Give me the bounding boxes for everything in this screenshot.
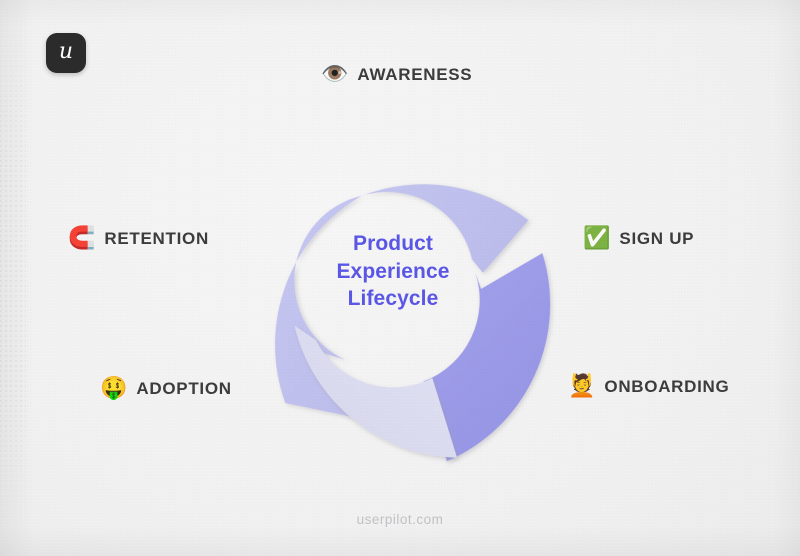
stage-label-adoption-text: ADOPTION (136, 379, 231, 399)
check-mark-button-icon: ✅ (583, 228, 610, 250)
userpilot-logo[interactable]: u (46, 33, 86, 73)
logo-glyph: u (59, 41, 73, 63)
stage-label-adoption[interactable]: 🤑 ADOPTION (100, 378, 232, 400)
money-mouth-face-icon: 🤑 (100, 378, 127, 400)
stage-label-awareness[interactable]: 👁️ AWARENESS (321, 64, 472, 86)
stage-label-signup-text: SIGN UP (619, 229, 694, 249)
person-getting-massage-icon: 💆 (568, 376, 595, 398)
eye-icon: 👁️ (321, 64, 348, 86)
poster-canvas: u (0, 0, 800, 556)
stage-label-signup[interactable]: ✅ SIGN UP (583, 228, 694, 250)
stage-label-awareness-text: AWARENESS (357, 65, 472, 85)
stage-label-onboarding[interactable]: 💆 ONBOARDING (568, 376, 729, 398)
edge-texture (0, 0, 26, 556)
stage-label-retention-text: RETENTION (104, 229, 209, 249)
footer-site-url[interactable]: userpilot.com (0, 512, 800, 527)
stage-label-onboarding-text: ONBOARDING (604, 377, 729, 397)
stage-label-retention[interactable]: 🧲 RETENTION (68, 228, 209, 250)
lifecycle-donut-chart (222, 106, 564, 448)
magnet-icon: 🧲 (68, 228, 95, 250)
